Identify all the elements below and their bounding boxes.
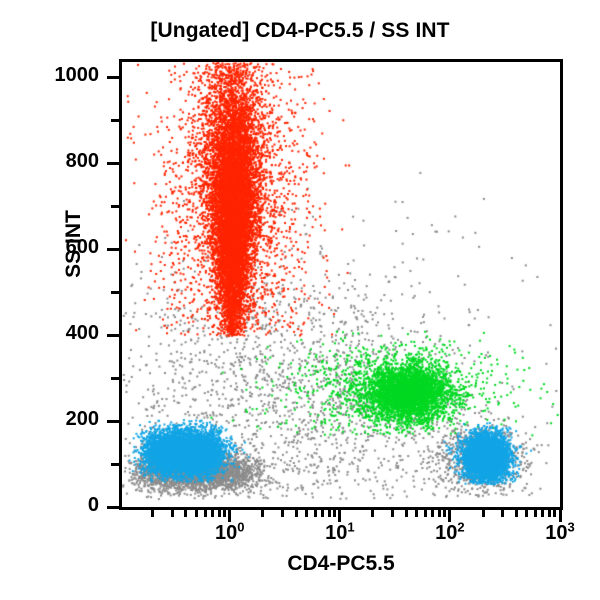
x-tick-minor: [553, 510, 556, 517]
page-title: [Ungated] CD4-PC5.5 / SS INT: [0, 18, 600, 44]
x-tick-minor: [184, 510, 187, 517]
x-tick-minor: [204, 510, 207, 517]
y-tick-major: [107, 334, 119, 337]
x-tick-label-exponent: 3: [568, 519, 575, 534]
y-tick-minor: [111, 119, 119, 122]
x-tick-minor: [415, 510, 418, 517]
x-tick-minor: [534, 510, 537, 517]
x-tick-minor: [391, 510, 394, 517]
scatter-point-canvas: [122, 62, 560, 507]
x-tick-minor: [443, 510, 446, 517]
x-tick-minor: [218, 510, 221, 517]
x-tick-minor: [371, 510, 374, 517]
x-tick-minor: [501, 510, 504, 517]
x-tick-minor: [438, 510, 441, 517]
x-tick-label-exponent: 0: [237, 519, 244, 534]
x-tick-minor: [281, 510, 284, 517]
y-tick-major: [107, 506, 119, 509]
x-tick-minor: [541, 510, 544, 517]
x-tick-minor: [405, 510, 408, 517]
y-tick-major: [107, 162, 119, 165]
x-tick-label-base: 10: [545, 522, 567, 544]
y-tick-label-text: 200: [66, 408, 99, 431]
x-tick-minor: [321, 510, 324, 517]
y-tick-minor: [111, 291, 119, 294]
flow-cytometry-scatter-plot: [Ungated] CD4-PC5.5 / SS INT SS INT CD4-…: [0, 0, 600, 600]
x-tick-minor: [211, 510, 214, 517]
x-tick-minor: [171, 510, 174, 517]
x-tick-minor: [482, 510, 485, 517]
x-tick-minor: [223, 510, 226, 517]
x-tick-minor: [261, 510, 264, 517]
plot-area[interactable]: [119, 59, 563, 510]
x-tick-label-exponent: 2: [457, 519, 464, 534]
y-tick-major: [107, 76, 119, 79]
x-tick-label-base: 10: [215, 522, 237, 544]
x-tick-minor: [431, 510, 434, 517]
x-tick-label: 101: [325, 522, 354, 545]
x-tick-label-base: 10: [325, 522, 347, 544]
x-tick-minor: [333, 510, 336, 517]
x-tick-label-base: 10: [435, 522, 457, 544]
y-tick-minor: [111, 463, 119, 466]
x-tick-minor: [328, 510, 331, 517]
x-tick-major: [228, 510, 231, 522]
x-tick-major: [559, 510, 562, 522]
x-tick-label: 102: [435, 522, 464, 545]
y-tick-label-text: 600: [66, 236, 99, 259]
x-tick-minor: [548, 510, 551, 517]
y-tick-major: [107, 248, 119, 251]
y-tick-minor: [111, 205, 119, 208]
x-tick-major: [448, 510, 451, 522]
x-tick-label: 100: [215, 522, 244, 545]
y-tick-label-text: 0: [88, 494, 99, 517]
x-tick-minor: [295, 510, 298, 517]
y-tick-label-text: 800: [66, 150, 99, 173]
y-tick-major: [107, 420, 119, 423]
x-tick-minor: [195, 510, 198, 517]
x-axis-label: CD4-PC5.5: [119, 552, 563, 576]
x-tick-minor: [525, 510, 528, 517]
x-tick-label: 103: [545, 522, 574, 545]
x-tick-minor: [515, 510, 518, 517]
x-tick-minor: [305, 510, 308, 517]
x-tick-minor: [151, 510, 154, 517]
y-tick-minor: [111, 377, 119, 380]
y-tick-label-text: 400: [66, 322, 99, 345]
x-tick-label-exponent: 1: [347, 519, 354, 534]
y-tick-label-text: 1000: [55, 64, 100, 87]
x-tick-minor: [424, 510, 427, 517]
x-tick-major: [338, 510, 341, 522]
x-tick-minor: [314, 510, 317, 517]
